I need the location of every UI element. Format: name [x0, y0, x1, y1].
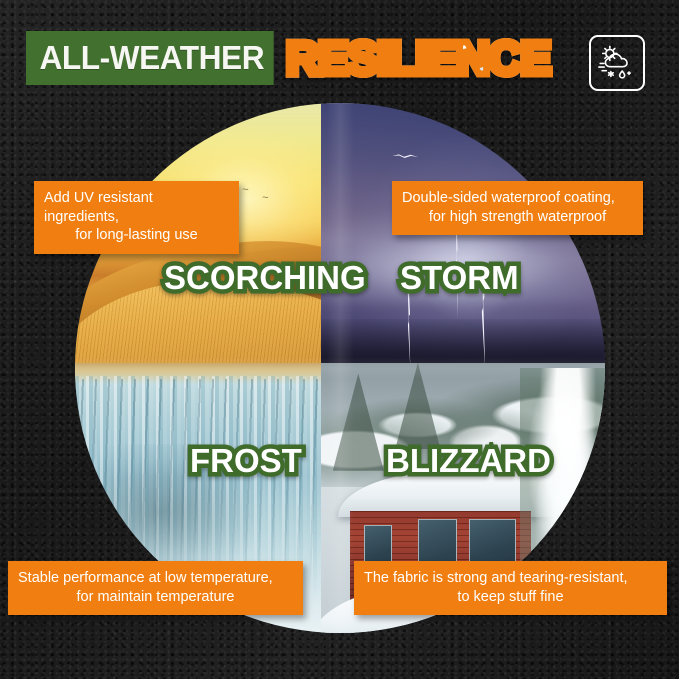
lightning-bolt-icon: [392, 154, 418, 158]
callout-storm-line1: Double-sided waterproof coating,: [402, 189, 633, 208]
callout-storm: Double-sided waterproof coating, for hig…: [392, 181, 643, 235]
callout-scorching: Add UV resistant ingredients, for long-l…: [34, 181, 239, 254]
bird-icon: ~: [262, 192, 268, 204]
label-blizzard: BLIZZARD: [386, 444, 551, 477]
bird-icon: ~: [242, 184, 248, 196]
quadrant-storm: [321, 103, 605, 373]
callout-blizzard: The fabric is strong and tearing-resista…: [354, 561, 667, 615]
title-all-weather: ALL-WEATHER: [26, 31, 274, 85]
callout-storm-line2: for high strength waterproof: [402, 208, 633, 227]
callout-scorching-line2: for long-lasting use: [44, 226, 229, 245]
callout-frost-line2: for maintain temperature: [18, 588, 293, 607]
label-scorching: SCORCHING: [164, 261, 366, 294]
callout-blizzard-line2: to keep stuff fine: [364, 588, 657, 607]
icicles-shadow: [75, 379, 359, 590]
callout-blizzard-line1: The fabric is strong and tearing-resista…: [364, 569, 657, 588]
label-frost: FROST: [190, 444, 302, 477]
callout-frost: Stable performance at low temperature, f…: [8, 561, 303, 615]
label-storm: STORM: [400, 261, 519, 294]
callout-scorching-line1: Add UV resistant ingredients,: [44, 189, 229, 226]
all-weather-resilience-poster: ALL-WEATHER RESILIENCE: [0, 0, 679, 679]
poster-header: ALL-WEATHER RESILIENCE: [26, 31, 550, 85]
mixed-weather-icon: [589, 35, 645, 91]
title-resilience: RESILIENCE: [286, 31, 550, 85]
callout-frost-line1: Stable performance at low temperature,: [18, 569, 293, 588]
